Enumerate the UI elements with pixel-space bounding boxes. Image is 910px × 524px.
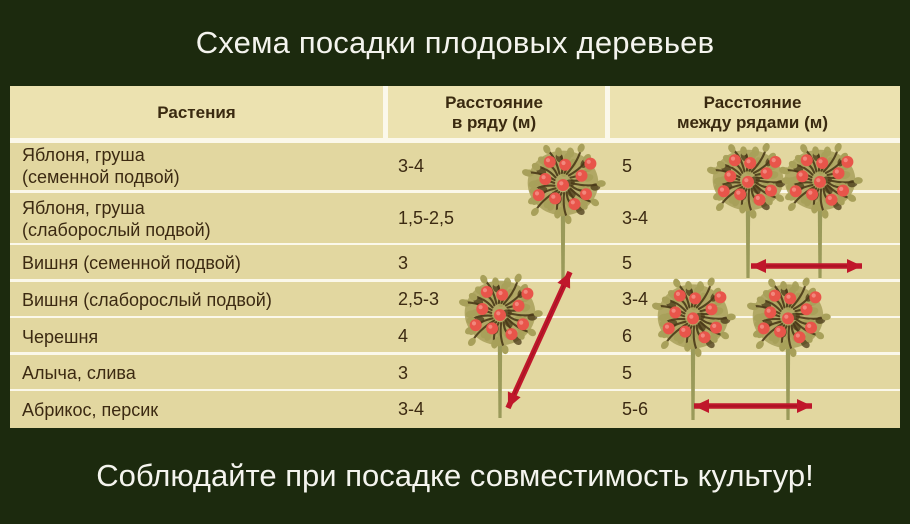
arrow-between-rows-lower [10,86,900,428]
arrow-between-rows-upper [10,86,900,428]
tree-between-rows-bottom-left [645,272,741,420]
poster-root: Схема посадки плодовых деревьев Растения… [0,0,910,524]
tree-between-rows-top-left [700,138,796,278]
tree-in-row-upper [515,138,611,288]
tree-in-row-lower [452,268,548,418]
footer-message: Соблюдайте при посадке совместимость кул… [96,458,813,494]
tree-between-rows-top-right [772,138,868,278]
illustration-layer [10,86,900,428]
tree-between-rows-bottom-right [740,272,836,420]
arrow-in-row-spacing [10,86,900,428]
title-banner: Схема посадки плодовых деревьев [0,0,910,86]
footer-banner: Соблюдайте при посадке совместимость кул… [0,428,910,524]
planting-scheme-table: Растения Расстояние в ряду (м) Расстояни… [10,86,900,428]
page-title: Схема посадки плодовых деревьев [196,25,715,61]
